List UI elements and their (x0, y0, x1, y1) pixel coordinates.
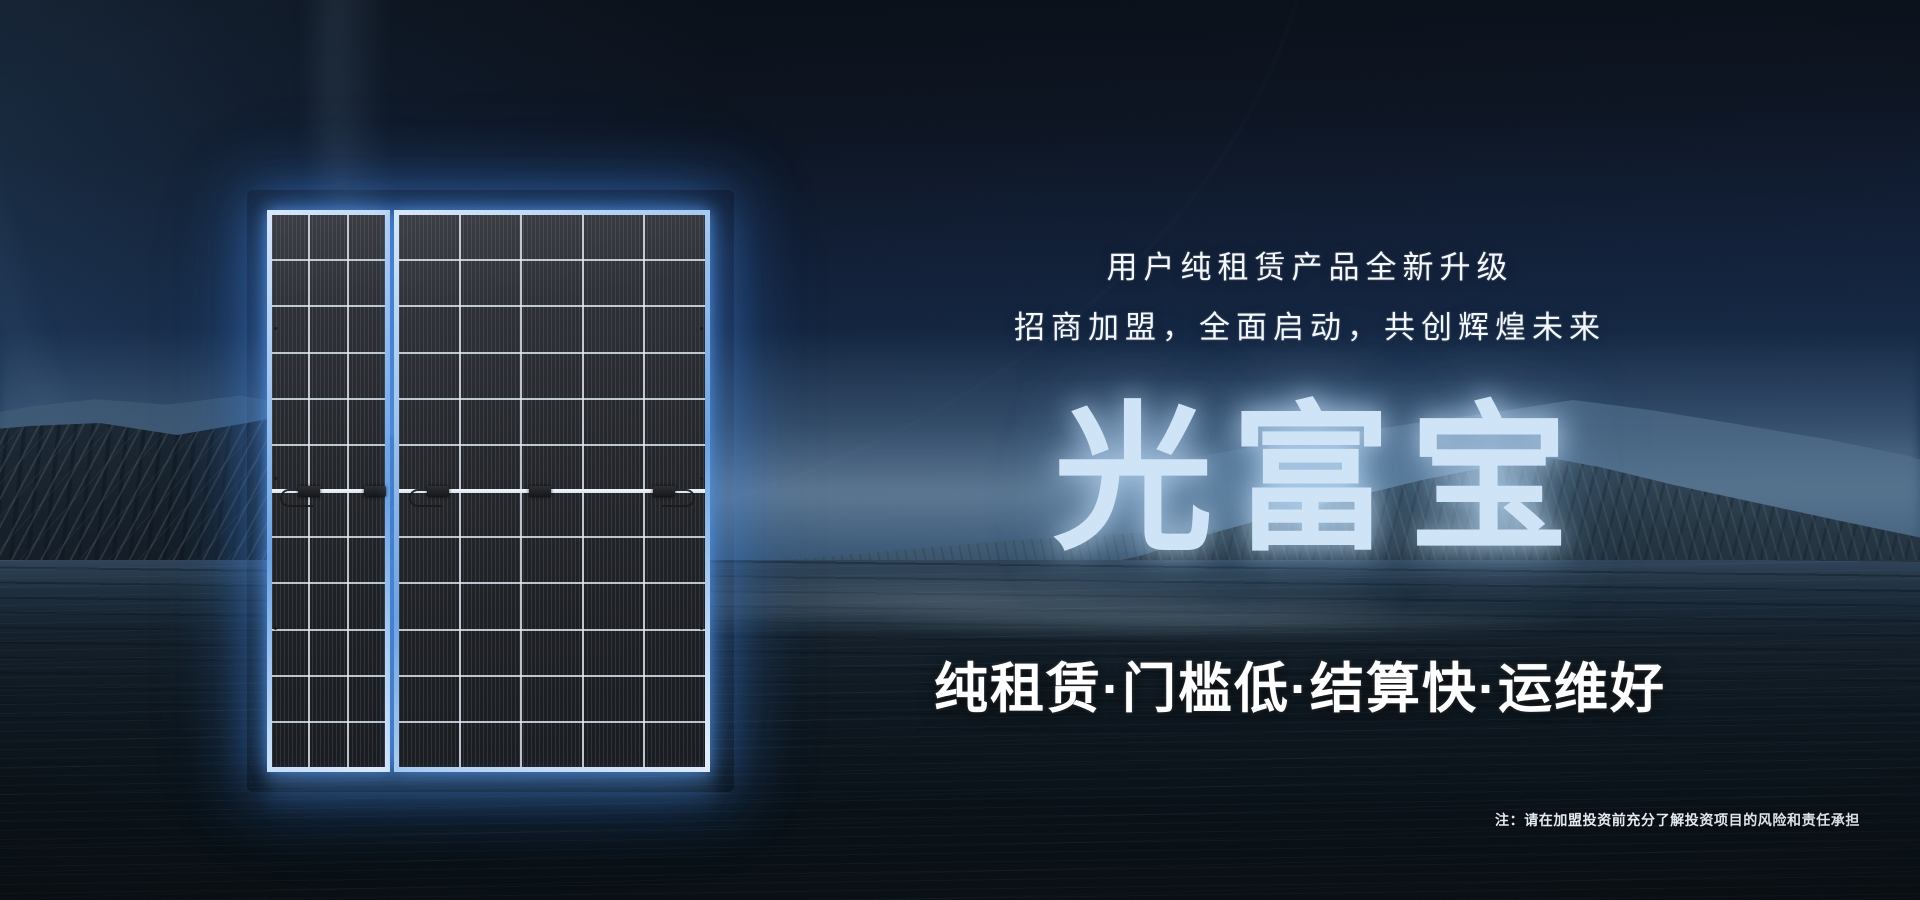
junction-box-right-1 (427, 486, 449, 497)
frame-mount-dot (700, 627, 703, 630)
junction-box-right-3 (653, 486, 675, 497)
junction-box-left-2 (364, 486, 386, 497)
headline-block: 用户纯租赁产品全新升级 招商加盟，全面启动，共创辉煌未来 (940, 252, 1680, 343)
slogan-text: 纯租赁·门槛低·结算快·运维好 (820, 662, 1780, 716)
frame-mount-dot (700, 477, 703, 480)
junction-box-left-1 (298, 486, 320, 497)
water-highlight-secondary (880, 600, 1580, 640)
frame-mount-dot (274, 477, 277, 480)
headline-line-2: 招商加盟，全面启动，共创辉煌未来 (940, 312, 1680, 343)
solar-panel-reflection (267, 772, 714, 824)
solar-panel-left (267, 210, 390, 772)
brand-title: 光富宝 (1020, 400, 1620, 560)
frame-mount-dot (274, 327, 277, 330)
frame-mount-dot (700, 327, 703, 330)
headline-line-1: 用户纯租赁产品全新升级 (940, 252, 1680, 283)
solar-panel-right (394, 210, 710, 772)
solar-panel-module (267, 210, 714, 772)
disclaimer-note: 注：请在加盟投资前充分了解投资项目的风险和责任承担 (1495, 810, 1860, 830)
frame-mount-dot (274, 627, 277, 630)
banner-stage: 用户纯租赁产品全新升级 招商加盟，全面启动，共创辉煌未来 光富宝 纯租赁·门槛低… (0, 0, 1920, 900)
junction-box-right-2 (529, 486, 551, 497)
